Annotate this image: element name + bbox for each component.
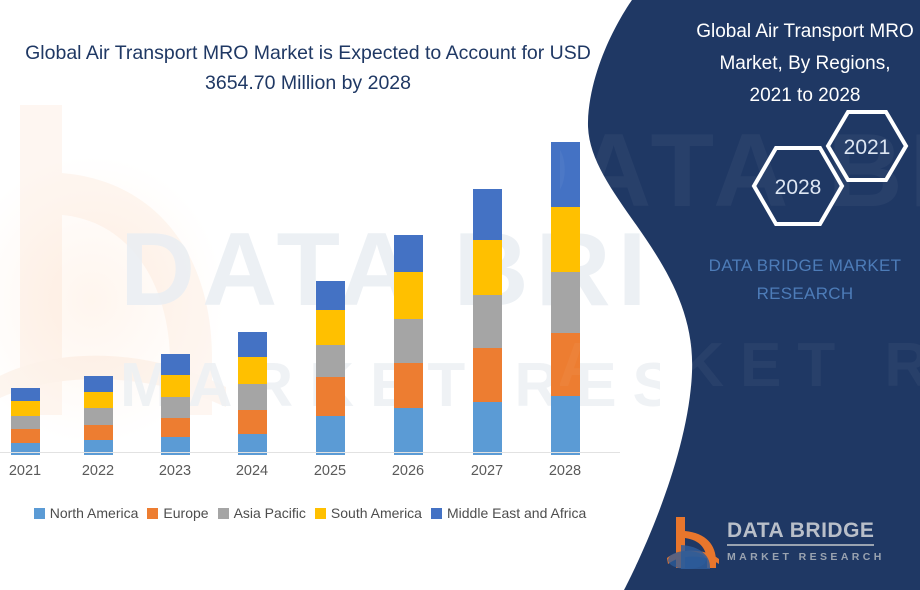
bar-2023[interactable] [161,354,190,455]
logo-mark-icon [665,515,721,570]
bar-2027[interactable] [473,189,502,455]
panel-brand-line-1: DATA BRIDGE MARKET [709,256,902,275]
navy-panel: DATA BRIDGE MARKET RESEARCH Global Air T… [560,0,920,590]
legend-item-europe[interactable]: Europe [147,506,208,520]
bar-2024[interactable] [238,332,267,455]
hexagon-badges: 2021 2028 [730,108,920,228]
x-axis-labels: 20212022202320242025202620272028 [0,458,620,488]
bar-segment-2027-south-america[interactable] [473,240,502,295]
bar-segment-2022-middle-east-and-africa[interactable] [84,376,113,392]
bar-segment-2022-europe[interactable] [84,425,113,441]
bar-segment-2025-europe[interactable] [316,377,345,415]
bar-segment-2026-europe[interactable] [394,363,423,409]
panel-title: Global Air Transport MROMarket, By Regio… [640,16,920,112]
bar-segment-2026-middle-east-and-africa[interactable] [394,235,423,272]
x-axis-label-2026: 2026 [368,463,448,479]
bar-segment-2022-asia-pacific[interactable] [84,408,113,425]
bar-segment-2024-europe[interactable] [238,410,267,434]
bar-segment-2027-middle-east-and-africa[interactable] [473,189,502,240]
bar-segment-2023-europe[interactable] [161,418,190,438]
bar-segment-2024-middle-east-and-africa[interactable] [238,332,267,357]
bar-segment-2027-europe[interactable] [473,348,502,402]
bar-segment-2026-south-america[interactable] [394,272,423,319]
x-axis-label-2022: 2022 [58,463,138,479]
x-axis-line [0,452,620,453]
bar-segment-2023-asia-pacific[interactable] [161,397,190,418]
plot-area [0,130,620,455]
bar-segment-2021-asia-pacific[interactable] [11,416,40,430]
chart-legend: North AmericaEuropeAsia PacificSouth Ame… [0,500,620,526]
legend-swatch-icon [431,508,442,519]
bar-2026[interactable] [394,235,423,455]
navy-watermark-line-2: MARKET RESEARCH [560,330,920,401]
bar-segment-2024-south-america[interactable] [238,357,267,384]
bar-segment-2025-north-america[interactable] [316,416,345,455]
bar-segment-2025-asia-pacific[interactable] [316,345,345,377]
data-bridge-logo: DATA BRIDGE MARKET RESEARCH [665,515,915,577]
legend-label: North America [50,506,139,520]
legend-label: Europe [163,506,208,520]
bar-segment-2026-north-america[interactable] [394,408,423,455]
hexagon-2021-label: 2021 [844,136,891,159]
bar-2021[interactable] [11,388,40,455]
legend-swatch-icon [147,508,158,519]
infographic-root: DATA BRIDGE MARKET RESEARCH Global Air T… [0,0,920,590]
bar-segment-2024-asia-pacific[interactable] [238,384,267,410]
x-axis-label-2025: 2025 [290,463,370,479]
bar-segment-2025-south-america[interactable] [316,310,345,345]
x-axis-label-2027: 2027 [447,463,527,479]
x-axis-label-2021: 2021 [0,463,65,479]
x-axis-label-2024: 2024 [212,463,292,479]
logo-name-top: DATA BRIDGE [727,519,874,546]
legend-label: Asia Pacific [234,506,306,520]
navy-panel-content: DATA BRIDGE MARKET RESEARCH Global Air T… [560,0,920,590]
bar-segment-2026-asia-pacific[interactable] [394,319,423,363]
logo-name-bottom: MARKET RESEARCH [727,549,917,565]
legend-swatch-icon [218,508,229,519]
legend-label: South America [331,506,422,520]
logo-text: DATA BRIDGE MARKET RESEARCH [727,519,917,565]
hexagon-2028-label: 2028 [775,176,822,199]
bar-segment-2025-middle-east-and-africa[interactable] [316,281,345,310]
legend-swatch-icon [315,508,326,519]
bar-segment-2023-south-america[interactable] [161,375,190,397]
legend-item-asia-pacific[interactable]: Asia Pacific [218,506,306,520]
bar-segment-2023-middle-east-and-africa[interactable] [161,354,190,375]
bar-segment-2027-north-america[interactable] [473,402,502,455]
bar-segment-2022-south-america[interactable] [84,392,113,409]
legend-swatch-icon [34,508,45,519]
bar-segment-2027-asia-pacific[interactable] [473,295,502,348]
panel-title-line-2: Market, By Regions, [719,53,890,74]
legend-item-north-america[interactable]: North America [34,506,139,520]
panel-title-line-1: Global Air Transport MRO [696,21,914,42]
bar-segment-2021-south-america[interactable] [11,401,40,416]
bar-segment-2021-north-america[interactable] [11,443,40,455]
x-axis-label-2023: 2023 [135,463,215,479]
bar-2022[interactable] [84,376,113,455]
panel-title-line-3: 2021 to 2028 [750,85,861,106]
chart-title: Global Air Transport MRO Market is Expec… [8,38,608,98]
panel-brand-text: DATA BRIDGE MARKETRESEARCH [640,252,920,308]
bar-segment-2021-europe[interactable] [11,429,40,443]
bar-2025[interactable] [316,281,345,455]
panel-brand-line-2: RESEARCH [757,284,854,303]
bar-segment-2021-middle-east-and-africa[interactable] [11,388,40,402]
legend-item-south-america[interactable]: South America [315,506,422,520]
